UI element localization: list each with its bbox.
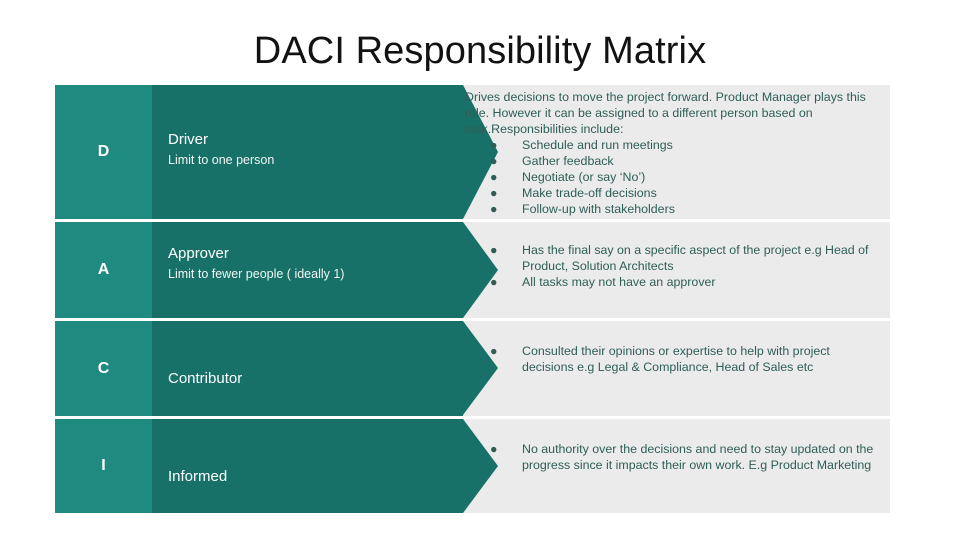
row-letter: A [98,262,110,278]
row-bullet-text: Schedule and run meetings [522,138,673,152]
row-bullet-text: No authority over the decisions and need… [522,442,873,472]
row-bullet-text: Has the final say on a specific aspect o… [522,243,868,273]
row-description: Drives decisions to move the project for… [465,89,885,217]
row-bullet-item: ●Follow-up with stakeholders [465,201,885,217]
row-role-limit: Limit to one person [168,152,274,169]
bullet-point-icon: ● [490,185,497,201]
row-bullet-item: ●Gather feedback [465,153,885,169]
row-bullet-text: Consulted their opinions or expertise to… [522,344,830,374]
row-bullet-text: Make trade-off decisions [522,186,657,200]
bullet-point-icon: ● [490,169,497,185]
row-bullet-text: All tasks may not have an approver [522,275,716,289]
row-role-name: Driver [168,130,274,150]
row-bullet-item: ●Consulted their opinions or expertise t… [465,343,885,375]
row-role-limit: Limit to fewer people ( ideally 1) [168,266,344,283]
row-arrow-shape [152,419,463,513]
bullet-point-icon: ● [490,343,497,359]
bullet-point-icon: ● [490,274,497,290]
row-bullet-text: Gather feedback [522,154,614,168]
daci-matrix: DDriverLimit to one personDrives decisio… [55,85,890,513]
page-title: DACI Responsibility Matrix [0,30,960,74]
row-bullet-list: ●Consulted their opinions or expertise t… [465,343,885,375]
row-bullet-text: Follow-up with stakeholders [522,202,675,216]
row-description: ●No authority over the decisions and nee… [465,441,885,473]
row-bullet-item: ●Schedule and run meetings [465,137,885,153]
bullet-point-icon: ● [490,242,497,258]
row-bullet-item: ●No authority over the decisions and nee… [465,441,885,473]
row-bullet-list: ●No authority over the decisions and nee… [465,441,885,473]
row-bullet-item: ●Negotiate (or say ‘No’) [465,169,885,185]
row-role-text: ApproverLimit to fewer people ( ideally … [168,244,344,282]
row-letter: I [101,458,105,474]
row-bullet-item: ●All tasks may not have an approver [465,274,885,290]
row-bullet-text: Negotiate (or say ‘No’) [522,170,645,184]
row-bullet-item: ●Make trade-off decisions [465,185,885,201]
row-role-text: DriverLimit to one person [168,130,274,168]
row-bullet-list: ●Schedule and run meetings●Gather feedba… [465,137,885,217]
row-description: ●Consulted their opinions or expertise t… [465,343,885,375]
row-letter-cell: D [55,85,152,219]
row-role-text: Informed [168,467,227,487]
bullet-point-icon: ● [490,153,497,169]
bullet-point-icon: ● [490,441,497,457]
row-bullet-list: ●Has the final say on a specific aspect … [465,242,885,290]
row-letter-cell: C [55,321,152,416]
row-letter: C [98,361,110,377]
row-letter: D [98,144,110,160]
matrix-row: IInformed●No authority over the decision… [55,419,890,513]
row-role-text: Contributor [168,369,242,389]
row-description-intro: Drives decisions to move the project for… [465,89,885,137]
row-role-name: Informed [168,467,227,487]
row-role-name: Approver [168,244,344,264]
matrix-row: DDriverLimit to one personDrives decisio… [55,85,890,219]
row-role-name: Contributor [168,369,242,389]
row-letter-cell: I [55,419,152,513]
row-letter-cell: A [55,222,152,318]
matrix-row: CContributor●Consulted their opinions or… [55,321,890,416]
bullet-point-icon: ● [490,137,497,153]
row-bullet-item: ●Has the final say on a specific aspect … [465,242,885,274]
slide-canvas: DACI Responsibility Matrix DDriverLimit … [0,0,960,540]
row-description: ●Has the final say on a specific aspect … [465,242,885,290]
matrix-row: AApproverLimit to fewer people ( ideally… [55,222,890,318]
bullet-point-icon: ● [490,201,497,217]
